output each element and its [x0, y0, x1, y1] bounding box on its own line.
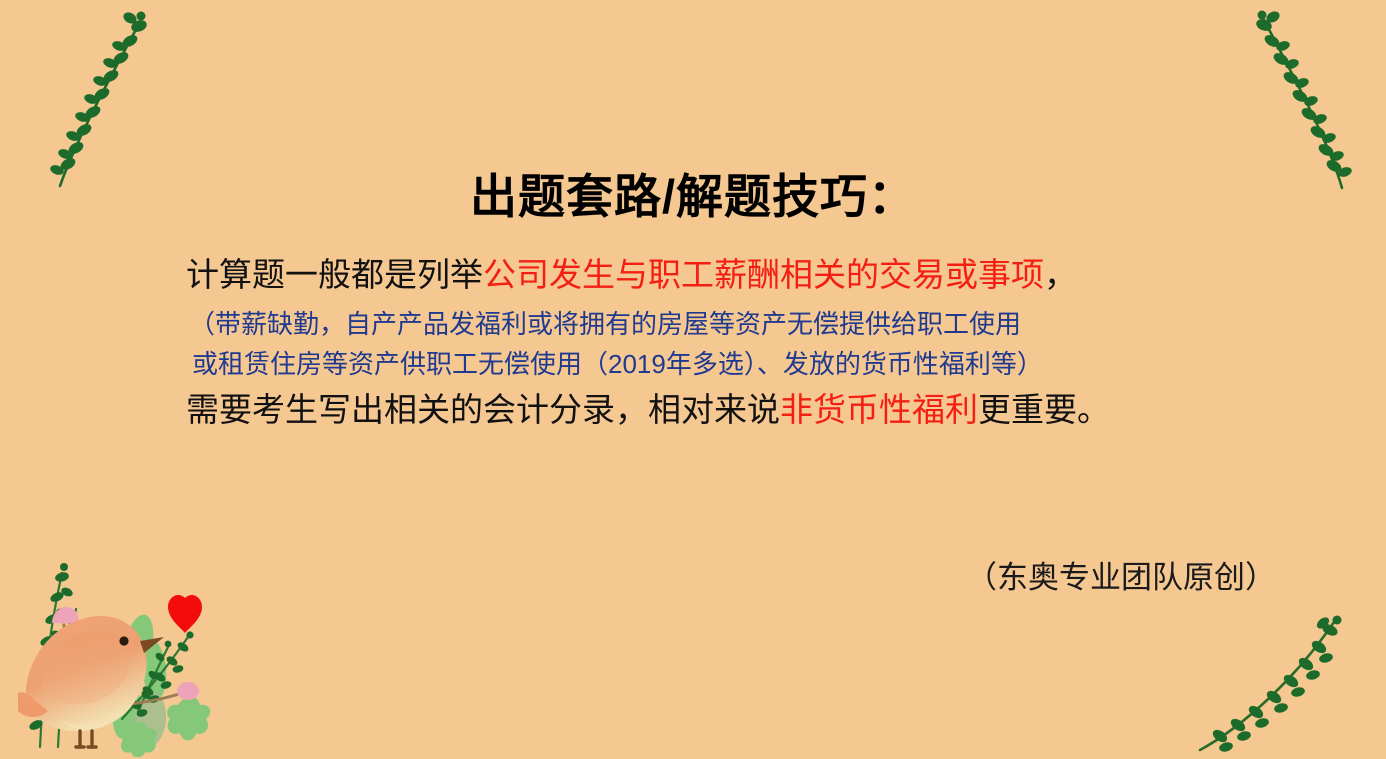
page-title: 出题套路/解题技巧：: [0, 158, 1386, 227]
leafy-vine-icon: [1192, 590, 1386, 759]
closing-statement-prefix: 需要考生写出相关的会计分录，相对来说: [186, 391, 780, 428]
main-statement-prefix: 计算题一般都是列举: [186, 256, 483, 293]
attribution-text: （东奥专业团队原创）: [0, 552, 1276, 597]
heart-icon: [168, 595, 202, 633]
note-line-2: 或租赁住房等资产供职工无偿使用（2019年多选）、发放的货币性福利等）: [192, 351, 1246, 377]
bird-illustration: [18, 497, 233, 757]
main-statement-line: 计算题一般都是列举公司发生与职工薪酬相关的交易或事项，: [186, 258, 1246, 291]
closing-statement-suffix: 更重要。: [978, 391, 1110, 428]
main-statement-highlight: 公司发生与职工薪酬相关的交易或事项: [483, 256, 1044, 293]
body-text-block: 计算题一般都是列举公司发生与职工薪酬相关的交易或事项， （带薪缺勤，自产产品发福…: [186, 258, 1246, 426]
main-statement-suffix: ，: [1044, 256, 1077, 293]
closing-statement-line: 需要考生写出相关的会计分录，相对来说非货币性福利更重要。: [186, 393, 1246, 426]
note-line-1: （带薪缺勤，自产产品发福利或将拥有的房屋等资产无偿提供给职工使用: [189, 311, 1246, 337]
slide-canvas: 出题套路/解题技巧： 计算题一般都是列举公司发生与职工薪酬相关的交易或事项， （…: [0, 0, 1386, 759]
closing-statement-highlight: 非货币性福利: [780, 391, 978, 428]
